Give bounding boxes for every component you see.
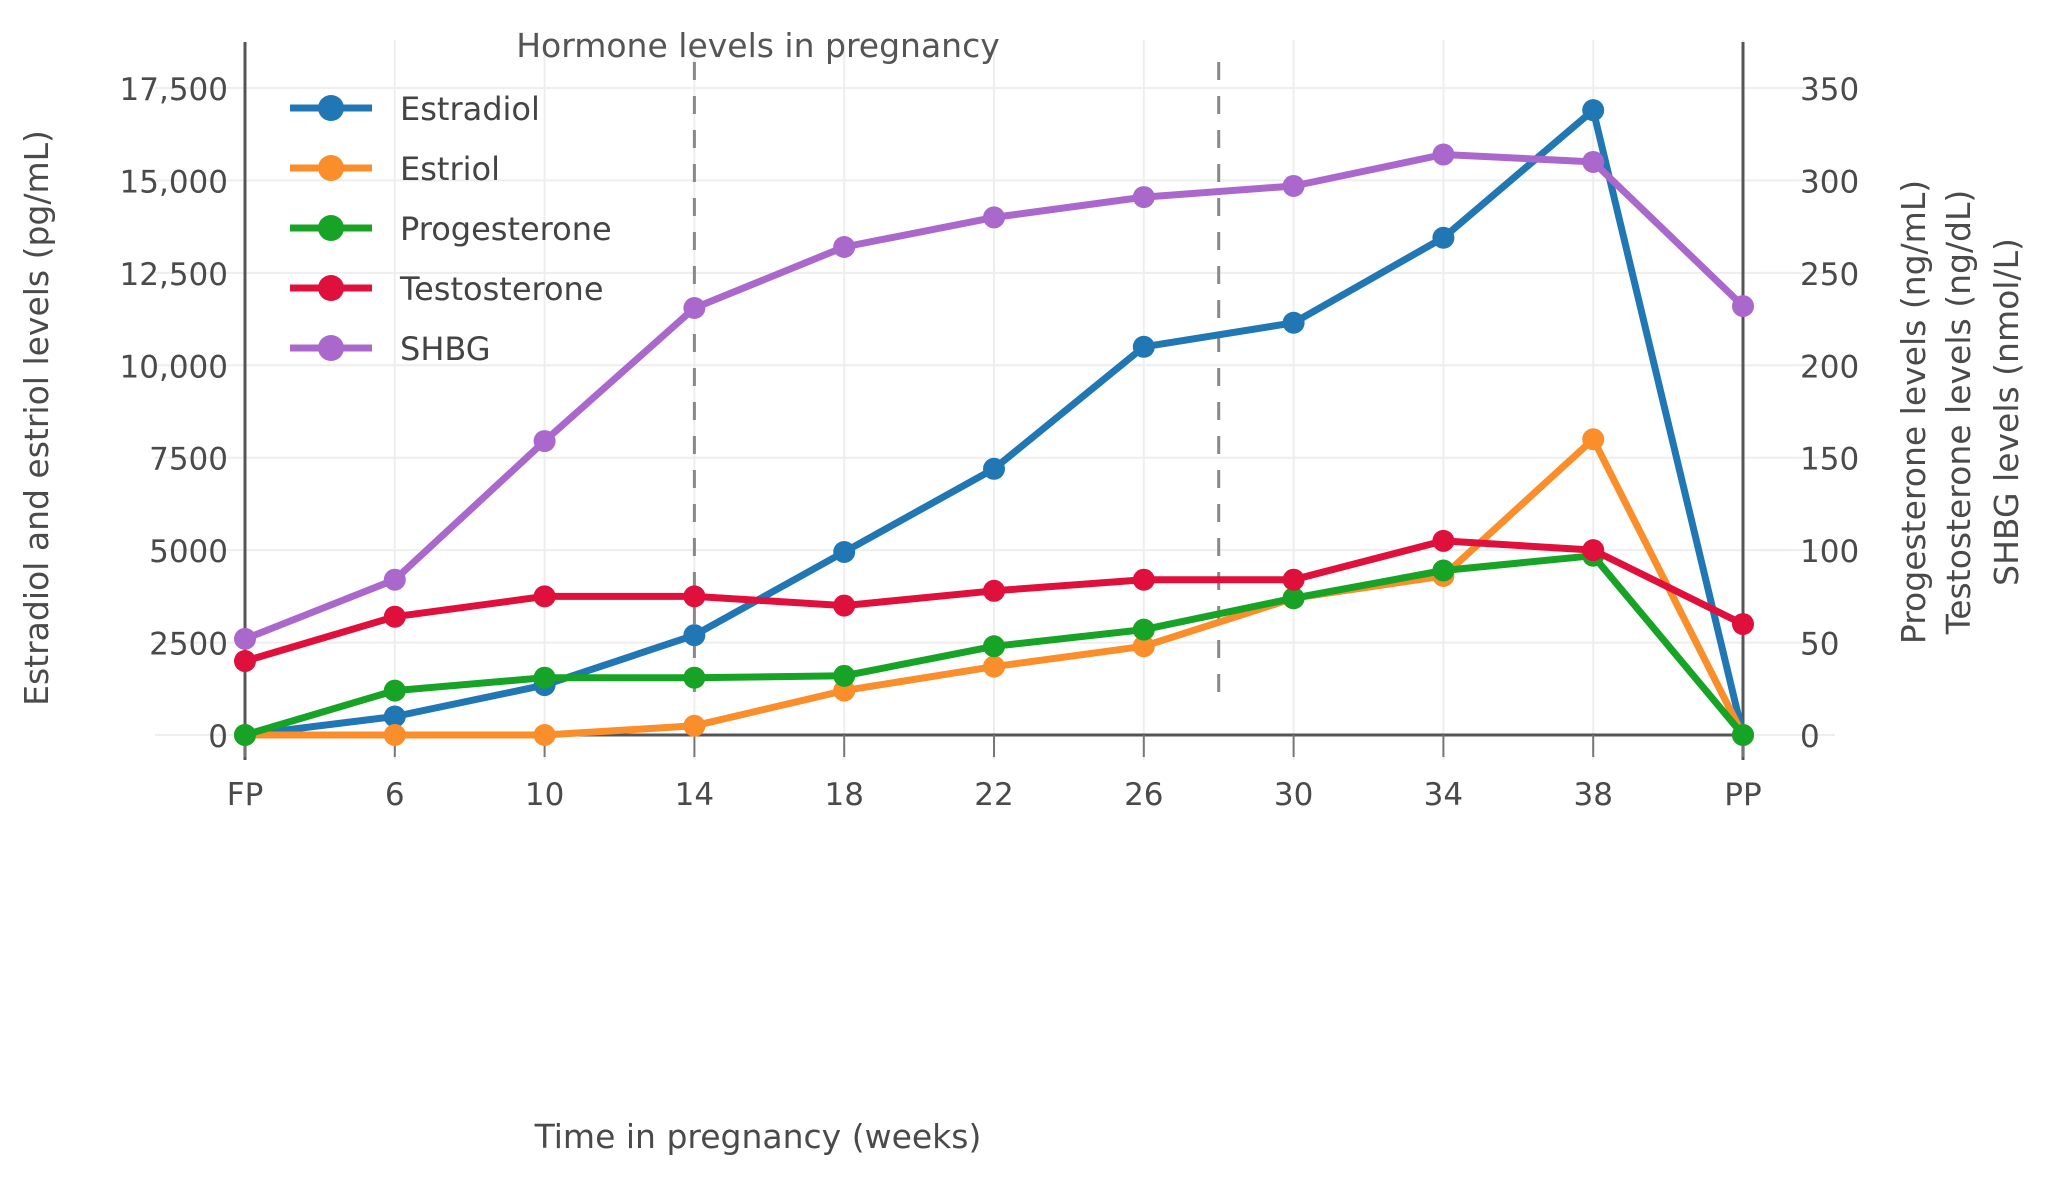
data-point [234, 724, 256, 746]
data-point [1283, 312, 1305, 334]
y-axis-left-title: Estradiol and estriol levels (pg/mL) [17, 130, 56, 706]
data-point [1582, 99, 1604, 121]
y-axis-left-tick-labels: 025005000750010,00012,50015,00017,500 [120, 72, 228, 755]
y-tick-label-right: 200 [1800, 349, 1859, 385]
y-axis-right-tick-labels: 050100150200250300350 [1760, 72, 1859, 755]
data-point [983, 580, 1005, 602]
y-tick-label-right: 50 [1800, 627, 1839, 663]
y-tick-label-left: 5000 [149, 534, 228, 570]
y-tick-label-left: 10,000 [120, 349, 228, 385]
data-point [384, 606, 406, 628]
data-point [983, 206, 1005, 228]
data-point [1432, 530, 1454, 552]
data-point [683, 667, 705, 689]
x-tick-label: 34 [1424, 777, 1463, 813]
data-point [534, 724, 556, 746]
data-point [683, 297, 705, 319]
legend-item-progesterone[interactable]: Progesterone [290, 210, 612, 248]
legend-swatch-dot [318, 215, 344, 241]
data-point [1582, 428, 1604, 450]
data-point [1283, 175, 1305, 197]
x-tick-label: 22 [974, 777, 1013, 813]
data-point [1133, 186, 1155, 208]
legend-swatch-dot [318, 275, 344, 301]
data-point [833, 665, 855, 687]
x-tick-label: 38 [1573, 777, 1612, 813]
data-point [983, 635, 1005, 657]
x-tick-label: 18 [824, 777, 863, 813]
data-point [1732, 724, 1754, 746]
data-point [534, 430, 556, 452]
data-point [1582, 151, 1604, 173]
legend-swatch-dot [318, 335, 344, 361]
legend-swatch-dot [318, 95, 344, 121]
data-point [384, 569, 406, 591]
data-point [1133, 619, 1155, 641]
y-tick-label-right: 300 [1800, 164, 1859, 200]
data-point [234, 628, 256, 650]
data-point [234, 650, 256, 672]
y-tick-label-left: 17,500 [120, 72, 228, 108]
data-point [1732, 295, 1754, 317]
data-point [1582, 539, 1604, 561]
y-tick-label-left: 7500 [149, 442, 228, 478]
y-axis-right-title-progesterone: Progesterone levels (ng/mL) [1894, 180, 1933, 644]
data-point [1432, 144, 1454, 166]
data-point [1432, 227, 1454, 249]
y-tick-label-right: 0 [1800, 719, 1820, 755]
x-tick-label: 14 [675, 777, 714, 813]
legend-label: Progesterone [400, 210, 612, 248]
data-point [683, 715, 705, 737]
y-tick-label-left: 12,500 [120, 257, 228, 293]
data-point [833, 236, 855, 258]
data-point [983, 458, 1005, 480]
x-tick-label: FP [227, 777, 264, 813]
x-axis-tick-labels: FP61014182226303438PP [227, 777, 1762, 813]
legend-swatch-dot [318, 155, 344, 181]
x-tick-label: 6 [385, 777, 405, 813]
data-point [534, 667, 556, 689]
legend: EstradiolEstriolProgesteroneTestosterone… [290, 90, 612, 368]
x-tick-label: 30 [1274, 777, 1313, 813]
y-tick-label-right: 250 [1800, 257, 1859, 293]
y-tick-label-left: 0 [208, 719, 228, 755]
y-tick-label-right: 350 [1800, 72, 1859, 108]
legend-label: Estriol [400, 150, 500, 188]
data-point [1133, 569, 1155, 591]
data-point [833, 541, 855, 563]
data-point [1133, 336, 1155, 358]
y-axis-right-title-testosterone: Testosterone levels (ng/dL) [1939, 190, 1978, 636]
legend-item-estradiol[interactable]: Estradiol [290, 90, 540, 128]
legend-label: Testosterone [399, 270, 604, 308]
y-axis-right-title-shbg: SHBG levels (nmol/L) [1987, 238, 2026, 586]
legend-item-shbg[interactable]: SHBG [290, 330, 491, 368]
x-axis-title: Time in pregnancy (weeks) [534, 1117, 982, 1156]
x-tick-label: 26 [1124, 777, 1163, 813]
data-point [384, 680, 406, 702]
data-point [833, 595, 855, 617]
data-point [683, 624, 705, 646]
legend-label: SHBG [400, 330, 491, 368]
data-point [683, 585, 705, 607]
x-tick-label: PP [1724, 777, 1761, 813]
y-tick-label-left: 15,000 [120, 164, 228, 200]
legend-item-testosterone[interactable]: Testosterone [290, 270, 604, 308]
data-point [983, 656, 1005, 678]
x-tick-label: 10 [525, 777, 564, 813]
y-tick-label-right: 100 [1800, 534, 1859, 570]
data-point [1732, 613, 1754, 635]
y-tick-label-left: 2500 [149, 627, 228, 663]
y-tick-label-right: 150 [1800, 442, 1859, 478]
data-point [534, 585, 556, 607]
data-point [384, 724, 406, 746]
chart-title: Hormone levels in pregnancy [516, 26, 1000, 65]
data-point [1283, 569, 1305, 591]
chart-root: 025005000750010,00012,50015,00017,500 05… [0, 0, 2048, 1196]
data-point [1432, 559, 1454, 581]
hormone-line-chart: 025005000750010,00012,50015,00017,500 05… [0, 0, 2048, 1196]
legend-label: Estradiol [400, 90, 540, 128]
